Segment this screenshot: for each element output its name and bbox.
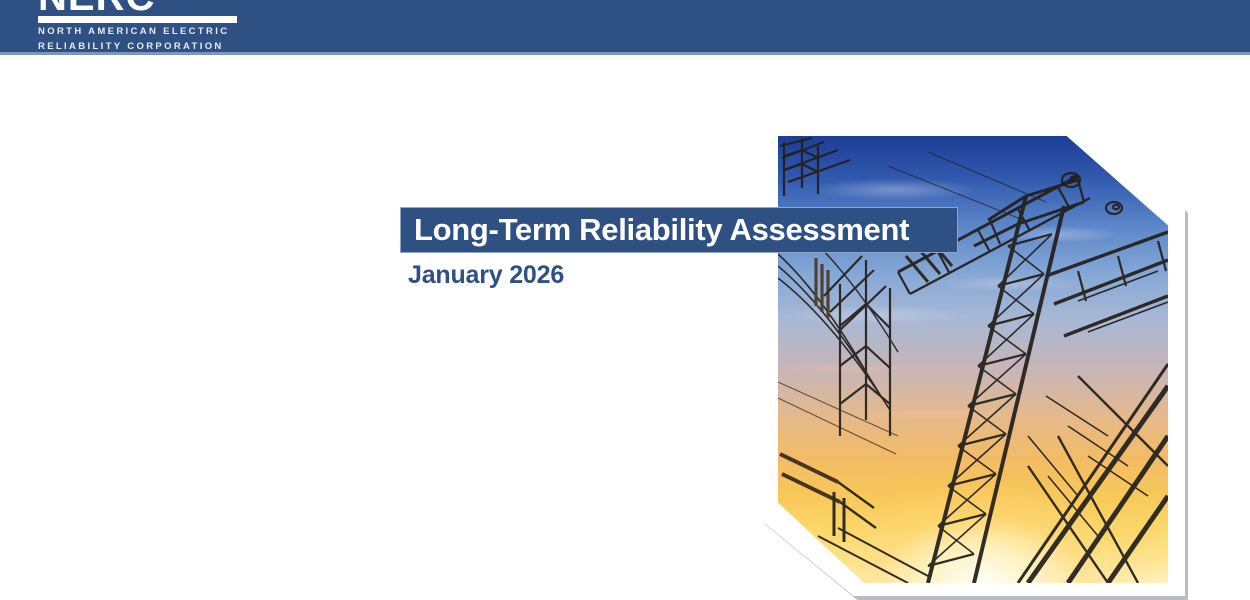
- logo-divider-rule: [38, 16, 237, 23]
- transmission-tower-silhouettes: [778, 136, 1168, 583]
- logo-subtitle-line-1: NORTH AMERICAN ELECTRIC: [38, 26, 268, 38]
- title-banner: Long-Term Reliability Assessment: [400, 207, 958, 253]
- transmission-towers-photo: [778, 136, 1168, 583]
- page-subtitle-date: January 2026: [408, 261, 564, 290]
- header-underline: [0, 52, 1250, 55]
- page-title: Long-Term Reliability Assessment: [401, 212, 909, 248]
- header-bar: NERC NORTH AMERICAN ELECTRIC RELIABILITY…: [0, 0, 1250, 52]
- nerc-wordmark: NERC: [38, 0, 268, 14]
- nerc-logo: NERC NORTH AMERICAN ELECTRIC RELIABILITY…: [38, 0, 268, 52]
- logo-subtitle-line-2: RELIABILITY CORPORATION: [38, 41, 268, 53]
